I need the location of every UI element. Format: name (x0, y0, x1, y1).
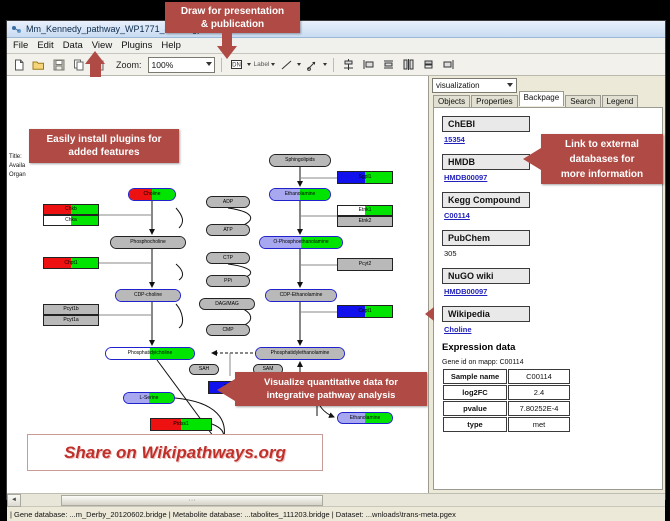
callout-draw-arrow-stem (222, 33, 232, 47)
pathway-node-label: DAG/MAG (215, 302, 239, 307)
align-top-icon[interactable] (380, 56, 397, 73)
menubar: File Edit Data View Plugins Help (7, 38, 665, 54)
line-icon[interactable] (278, 56, 295, 73)
pathvisio-window: Mm_Kennedy_pathway_WP1771_45176.gpml Fil… (6, 20, 666, 500)
interaction-tool[interactable] (304, 56, 327, 73)
statusbar: | Gene database: ...m_Derby_20120602.bri… (7, 506, 665, 521)
expr-key-pvalue: pvalue (443, 401, 507, 416)
info-label-available: Availa (9, 162, 26, 171)
callout-plugins-line1: Easily install plugins for (29, 133, 179, 146)
table-row: Sample name C00114 (443, 369, 570, 384)
menu-edit[interactable]: Edit (37, 40, 53, 51)
pathway-node-cdp-choline[interactable]: CDP-choline (115, 289, 181, 302)
pathway-node-label: L-Serine (140, 396, 159, 401)
pathway-node-label: Choline (144, 192, 161, 197)
pathway-node-label: O-Phosphoethanolamine (273, 240, 328, 245)
stack-icon[interactable] (420, 56, 437, 73)
info-label-title: Title: (9, 153, 26, 162)
pathway-node-label: Phosphocholine (130, 240, 166, 245)
callout-draw: Draw for presentation & publication (165, 2, 300, 33)
pathway-node-label: ADP (223, 200, 233, 205)
pathway-node-pcyt2[interactable]: Pcyt2 (337, 258, 393, 271)
toolbar-separator (221, 58, 222, 72)
pathway-node-label: Ptdss1 (173, 422, 188, 427)
callout-visualize-arrow-icon (217, 379, 235, 401)
pathway-node-label: CTP (223, 256, 233, 261)
callout-links-line3: more information (541, 167, 663, 182)
callout-draw-arrow-icon (217, 46, 237, 59)
pathway-info-labels: Title: Availa Organ (9, 153, 26, 180)
statusbar-text: | Gene database: ...m_Derby_20120602.bri… (10, 510, 456, 519)
pathway-node-label: Sgpl1 (359, 175, 372, 180)
callout-links-line1: Link to external (541, 137, 663, 152)
expr-val-type: met (508, 417, 570, 432)
toolbar-separator (333, 58, 334, 72)
pathway-node-chkb[interactable]: Chkb (43, 204, 99, 215)
backpage-header-nugo: NuGO wiki (442, 268, 530, 284)
app-icon (11, 24, 22, 35)
pathway-node-label: PPi (224, 279, 232, 284)
pathway-node-phosphatidylethanolamine[interactable]: Phosphatidylethanolamine (255, 347, 345, 360)
callout-plugins-arrow-icon (85, 51, 105, 64)
pathway-node-ctp[interactable]: CTP (206, 252, 250, 264)
pathway-node-label: Pcyt1a (63, 318, 78, 323)
callout-plugins: Easily install plugins for added feature… (29, 129, 179, 163)
align-right-icon[interactable] (440, 56, 457, 73)
backpage-header-pubchem: PubChem (442, 230, 530, 246)
pathway-node-etnk1[interactable]: Etnk1 (337, 205, 393, 216)
pathway-node-adp[interactable]: ADP (206, 196, 250, 208)
callout-draw-line2: & publication (165, 18, 300, 31)
chevron-down-icon[interactable] (323, 63, 327, 66)
table-row: type met (443, 417, 570, 432)
pathway-node-ppi[interactable]: PPi (206, 275, 250, 287)
callout-visualize: Visualize quantitative data for integrat… (235, 372, 427, 406)
menu-data[interactable]: Data (63, 40, 83, 51)
pathway-node-l-serine-left[interactable]: L-Serine (123, 392, 175, 404)
callout-plugins-line2: added features (29, 146, 179, 159)
zoom-value: 100% (152, 60, 174, 70)
pathway-node-ptdss1[interactable]: Ptdss1 (150, 418, 212, 431)
callout-visualize-line1: Visualize quantitative data for (235, 376, 427, 389)
pathway-node-atp[interactable]: ATP (206, 224, 250, 236)
pathway-node-sah[interactable]: SAH (189, 364, 219, 375)
pathway-node-phosphatidylcholine[interactable]: Phosphatidylcholine (105, 347, 195, 360)
pathway-node-sphingolipids[interactable]: Sphingolipids (269, 154, 331, 167)
pathway-node-cept1[interactable]: Cept1 (337, 305, 393, 318)
pathway-node-label: CDP-Ethanolamine (280, 293, 323, 298)
pathway-node-label: CMP (222, 328, 233, 333)
pathway-node-label: Etnk2 (359, 219, 372, 224)
chevron-down-icon[interactable] (507, 83, 513, 87)
backpage-entry: NuGO wiki HMDB00097 (442, 266, 654, 296)
callout-links: Link to external databases for more info… (541, 134, 663, 184)
pathway-node-etnk2[interactable]: Etnk2 (337, 216, 393, 227)
pathway-node-label: Cept1 (358, 309, 371, 314)
pathway-node-choline-top[interactable]: Choline (128, 188, 176, 201)
window-titlebar: Mm_Kennedy_pathway_WP1771_45176.gpml (7, 21, 665, 38)
expr-val-pvalue: 7.80252E-4 (508, 401, 570, 416)
backpage-link-kegg[interactable]: C00114 (444, 211, 654, 220)
horizontal-scrollbar[interactable]: ◄ ··· (7, 493, 665, 506)
info-label-organism: Organ (9, 171, 26, 180)
pathway-node-dagmag[interactable]: DAG/MAG (199, 298, 255, 310)
pathway-canvas[interactable]: SphingolipidsEthanolamineO-Phosphoethano… (7, 76, 429, 493)
pathway-node-label: Chpt1 (64, 261, 77, 266)
menu-file[interactable]: File (13, 40, 28, 51)
expr-key-type: type (443, 417, 507, 432)
gene-id-line: Gene id on mapp: C00114 (442, 359, 654, 366)
visualization-select[interactable]: visualization (432, 78, 517, 93)
callout-plugins-arrow-stem (90, 63, 101, 77)
table-row: pvalue 7.80252E-4 (443, 401, 570, 416)
chevron-down-icon[interactable] (271, 63, 275, 66)
toolbar: Zoom: 100% DN Label (7, 54, 665, 76)
pathway-node-cdp-ethanolamine[interactable]: CDP-Ethanolamine (265, 289, 337, 302)
pathway-node-label: ATP (223, 228, 232, 233)
pathway-node-cmp[interactable]: CMP (206, 324, 250, 336)
table-row: log2FC 2.4 (443, 385, 570, 400)
pathway-node-sgpl1[interactable]: Sgpl1 (337, 171, 393, 184)
backpage-link-wikipedia[interactable]: Choline (444, 325, 654, 334)
svg-text:DN: DN (232, 63, 241, 69)
backpage-entry: Kegg Compound C00114 (442, 190, 654, 220)
backpage-value-pubchem: 305 (444, 249, 654, 258)
chevron-down-icon[interactable] (297, 63, 301, 66)
menu-help[interactable]: Help (161, 40, 181, 51)
pathway-node-pcyt1b[interactable]: Pcyt1b (43, 304, 99, 315)
align-left-icon[interactable] (360, 56, 377, 73)
pathway-node-label: Ethanolamine (350, 416, 381, 421)
expression-data-title: Expression data (442, 342, 654, 353)
interaction-arrow-icon[interactable] (304, 56, 321, 73)
backpage-header-chebi: ChEBI (442, 116, 530, 132)
pathway-node-label: Chkb (65, 207, 77, 212)
label-tool-label: Label (254, 61, 270, 68)
zoom-label: Zoom: (116, 60, 142, 70)
pathway-node-chka[interactable]: Chka (43, 215, 99, 226)
pathway-node-ethanolamine-right[interactable]: Ethanolamine (337, 412, 393, 424)
open-folder-icon[interactable] (30, 56, 47, 73)
backpage-header-wikipedia: Wikipedia (442, 306, 530, 322)
chevron-down-icon[interactable] (247, 63, 251, 66)
expression-table: Sample name C00114 log2FC 2.4 pvalue 7.8… (442, 368, 571, 433)
side-panel: visualization Objects Properties Backpag… (429, 76, 665, 493)
pathway-node-label: Pcyt1b (63, 307, 78, 312)
pathway-node-label: Pcyt2 (359, 262, 372, 267)
callout-links-arrow-tail-icon (425, 307, 434, 321)
callout-visualize-line2: integrative pathway analysis (235, 389, 427, 402)
align-center-icon[interactable] (340, 56, 357, 73)
pathway-node-label: SAH (199, 367, 209, 372)
pathway-node-chpt1[interactable]: Chpt1 (43, 257, 99, 269)
pathway-node-label: Chka (65, 218, 77, 223)
pathway-node-label: Ethanolamine (285, 192, 316, 197)
expr-val-log2fc: 2.4 (508, 385, 570, 400)
backpage-header-kegg: Kegg Compound (442, 192, 530, 208)
pathway-node-label: Etnk1 (359, 208, 372, 213)
pathway-node-o-phosphoethanolamine[interactable]: O-Phosphoethanolamine (259, 236, 343, 249)
callout-draw-line1: Draw for presentation (165, 5, 300, 18)
label-tool[interactable]: Label (254, 61, 276, 68)
scroll-left-button[interactable]: ◄ (7, 494, 21, 507)
callout-links-line2: databases for (541, 152, 663, 167)
pathway-node-phosphocholine[interactable]: Phosphocholine (110, 236, 186, 249)
backpage-entry: PubChem 305 (442, 228, 654, 258)
share-banner-text: Share on Wikipathways.org (64, 443, 286, 463)
callout-links-arrow-icon (523, 148, 541, 170)
new-file-icon[interactable] (10, 56, 27, 73)
pathway-node-ethanolamine-top[interactable]: Ethanolamine (269, 188, 331, 201)
menu-plugins[interactable]: Plugins (121, 40, 152, 51)
expr-val-sample-name: C00114 (508, 369, 570, 384)
tab-backpage[interactable]: Backpage (519, 91, 565, 106)
share-banner: Share on Wikipathways.org (27, 434, 323, 471)
expr-key-sample-name: Sample name (443, 369, 507, 384)
main-body: SphingolipidsEthanolamineO-Phosphoethano… (7, 76, 665, 493)
chevron-down-icon[interactable] (206, 62, 212, 66)
save-icon[interactable] (50, 56, 67, 73)
pathway-node-label: CDP-choline (134, 293, 162, 298)
pathway-node-label: Phosphatidylethanolamine (271, 351, 330, 356)
pathway-node-label: Sphingolipids (285, 158, 315, 163)
backpage-entry: Wikipedia Choline (442, 304, 654, 334)
pathway-node-label: Phosphatidylcholine (128, 351, 172, 356)
menu-view[interactable]: View (92, 40, 112, 51)
scroll-thumb[interactable]: ··· (61, 495, 323, 506)
visualization-select-value: visualization (436, 81, 480, 90)
zoom-combobox[interactable]: 100% (148, 57, 215, 73)
backpage-link-nugo[interactable]: HMDB00097 (444, 287, 654, 296)
backpage-header-hmdb: HMDB (442, 154, 530, 170)
pathway-node-pcyt1a[interactable]: Pcyt1a (43, 315, 99, 326)
expr-key-log2fc: log2FC (443, 385, 507, 400)
line-tool[interactable] (278, 56, 301, 73)
distribute-horizontal-icon[interactable] (400, 56, 417, 73)
